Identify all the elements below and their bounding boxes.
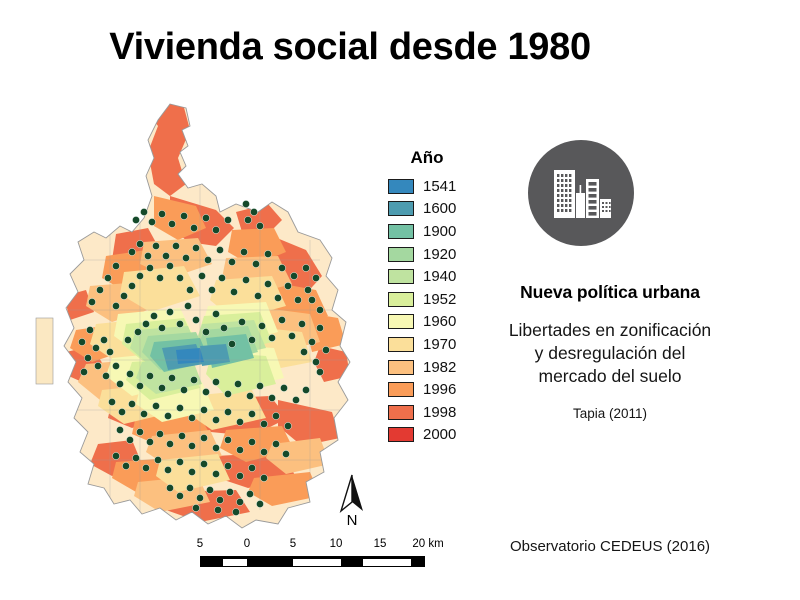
- scale-bar-graphic: [200, 556, 425, 567]
- north-arrow: N: [330, 472, 374, 534]
- legend-swatch: [388, 179, 414, 194]
- map-figure[interactable]: N: [20, 100, 380, 530]
- legend-item[interactable]: 1900: [388, 220, 488, 243]
- scale-tick-1: 0: [244, 538, 250, 550]
- slide-canvas: Vivienda social desde 1980: [0, 0, 800, 600]
- legend-item[interactable]: 2000: [388, 424, 488, 447]
- choropleth-map[interactable]: [20, 100, 380, 530]
- legend-swatch: [388, 337, 414, 352]
- city-buildings-icon: [528, 140, 634, 246]
- legend-swatch: [388, 360, 414, 375]
- north-arrow-label: N: [330, 512, 374, 529]
- legend-label: 1900: [423, 224, 456, 239]
- scale-tick-3: 10: [330, 538, 343, 550]
- legend-swatch: [388, 269, 414, 284]
- scale-tick-2: 5: [290, 538, 296, 550]
- city-buildings-glyph: [552, 166, 612, 222]
- scale-tick-0: 5: [197, 538, 203, 550]
- map-polygon-layer: [20, 100, 380, 530]
- credit-line: Observatorio CEDEUS (2016): [440, 538, 780, 555]
- legend-label: 2000: [423, 427, 456, 442]
- legend-swatch: [388, 427, 414, 442]
- panel-heading: Nueva política urbana: [440, 282, 780, 303]
- legend-swatch: [388, 247, 414, 262]
- legend-swatch: [388, 382, 414, 397]
- legend-swatch: [388, 405, 414, 420]
- legend-label: 1600: [423, 201, 456, 216]
- legend-swatch: [388, 224, 414, 239]
- page-title: Vivienda social desde 1980: [0, 26, 700, 69]
- panel-source: Tapia (2011): [440, 406, 780, 421]
- panel-body: Libertades en zonificación y desregulaci…: [440, 319, 780, 388]
- scale-bar-labels: 5 0 5 10 15 20 km: [190, 538, 440, 553]
- panel-body-line: y desregulación del: [440, 342, 780, 365]
- legend-swatch: [388, 292, 414, 307]
- scale-bar: 5 0 5 10 15 20 km: [190, 538, 440, 572]
- panel-body-line: Libertades en zonificación: [440, 319, 780, 342]
- scale-tick-4: 15: [374, 538, 387, 550]
- legend-title: Año: [390, 148, 464, 168]
- scale-tick-5: 20 km: [412, 538, 443, 550]
- legend-label: 1541: [423, 179, 456, 194]
- info-panel: Nueva política urbana Libertades en zoni…: [440, 282, 780, 421]
- legend-item[interactable]: 1920: [388, 243, 488, 266]
- legend-swatch: [388, 201, 414, 216]
- legend-label: 1920: [423, 247, 456, 262]
- panel-body-line: mercado del suelo: [440, 365, 780, 388]
- legend-item[interactable]: 1600: [388, 198, 488, 221]
- legend-item[interactable]: 1541: [388, 175, 488, 198]
- legend-swatch: [388, 314, 414, 329]
- map-detached-parcel: [36, 318, 53, 384]
